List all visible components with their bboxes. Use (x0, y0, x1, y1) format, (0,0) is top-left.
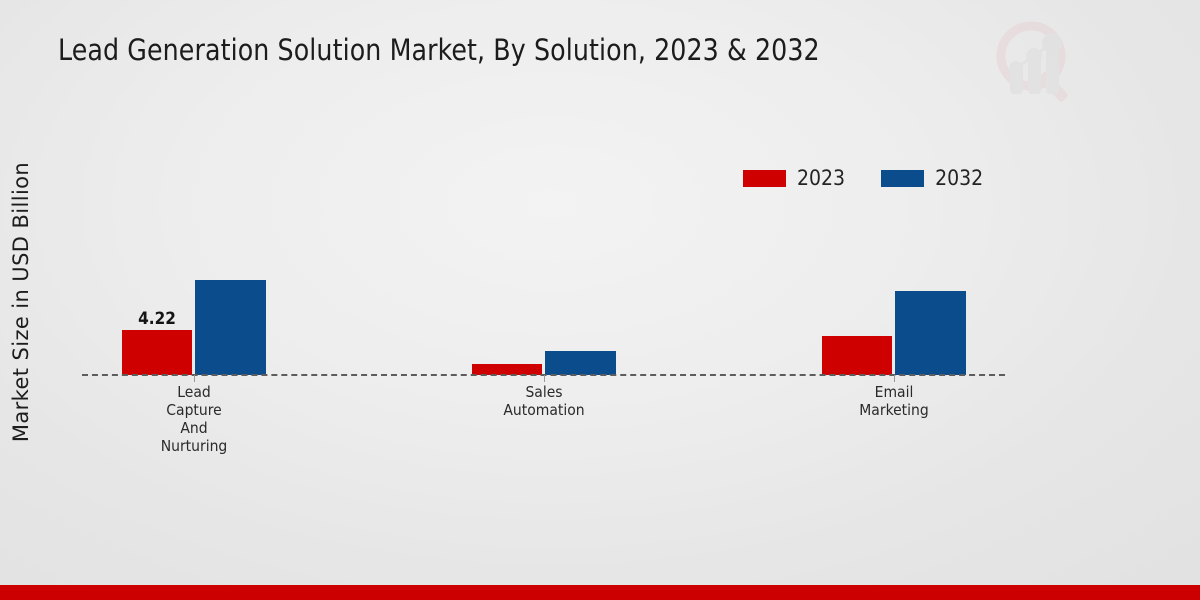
bar-2032-sales-automation[interactable] (545, 351, 616, 375)
bar-2032-email-marketing[interactable] (895, 291, 966, 375)
cat-line: Capture (84, 401, 304, 419)
legend-swatch-2032 (881, 170, 924, 187)
bar-value-label-lead-capture-2023: 4.22 (117, 309, 197, 329)
x-axis-label-lead-capture-and-nurturing: Lead Capture And Nurturing (84, 383, 304, 455)
x-axis-label-email-marketing: Email Marketing (784, 383, 1004, 419)
x-axis-baseline (82, 374, 1005, 376)
legend-item-2023[interactable]: 2023 (743, 168, 845, 189)
bar-2023-lead-capture-and-nurturing[interactable] (122, 330, 192, 375)
legend-label-2032: 2032 (935, 168, 983, 189)
watermark-logo (985, 12, 1085, 112)
bar-2032-lead-capture-and-nurturing[interactable] (195, 280, 266, 375)
magnifier-bar-chart-icon (985, 12, 1085, 112)
bar-2023-sales-automation[interactable] (472, 364, 542, 375)
cat-line: And (84, 419, 304, 437)
cat-line: Email (784, 383, 1004, 401)
chart-title: Lead Generation Solution Market, By Solu… (58, 33, 820, 67)
cat-line: Automation (434, 401, 654, 419)
cat-line: Marketing (784, 401, 1004, 419)
cat-line: Sales (434, 383, 654, 401)
cat-line: Nurturing (84, 437, 304, 455)
x-axis-tick-3 (894, 375, 895, 382)
x-axis-label-sales-automation: Sales Automation (434, 383, 654, 419)
cat-line: Lead (84, 383, 304, 401)
footer-accent-bar (0, 585, 1200, 600)
y-axis-title: Market Size in USD Billion (9, 132, 33, 472)
bar-2023-email-marketing[interactable] (822, 336, 892, 375)
x-axis-tick-2 (544, 375, 545, 382)
legend-item-2032[interactable]: 2032 (881, 168, 983, 189)
chart-page: Lead Generation Solution Market, By Solu… (0, 0, 1200, 600)
legend-label-2023: 2023 (797, 168, 845, 189)
legend-swatch-2023 (743, 170, 786, 187)
chart-legend: 2023 2032 (743, 168, 983, 189)
x-axis-tick-1 (194, 375, 195, 382)
